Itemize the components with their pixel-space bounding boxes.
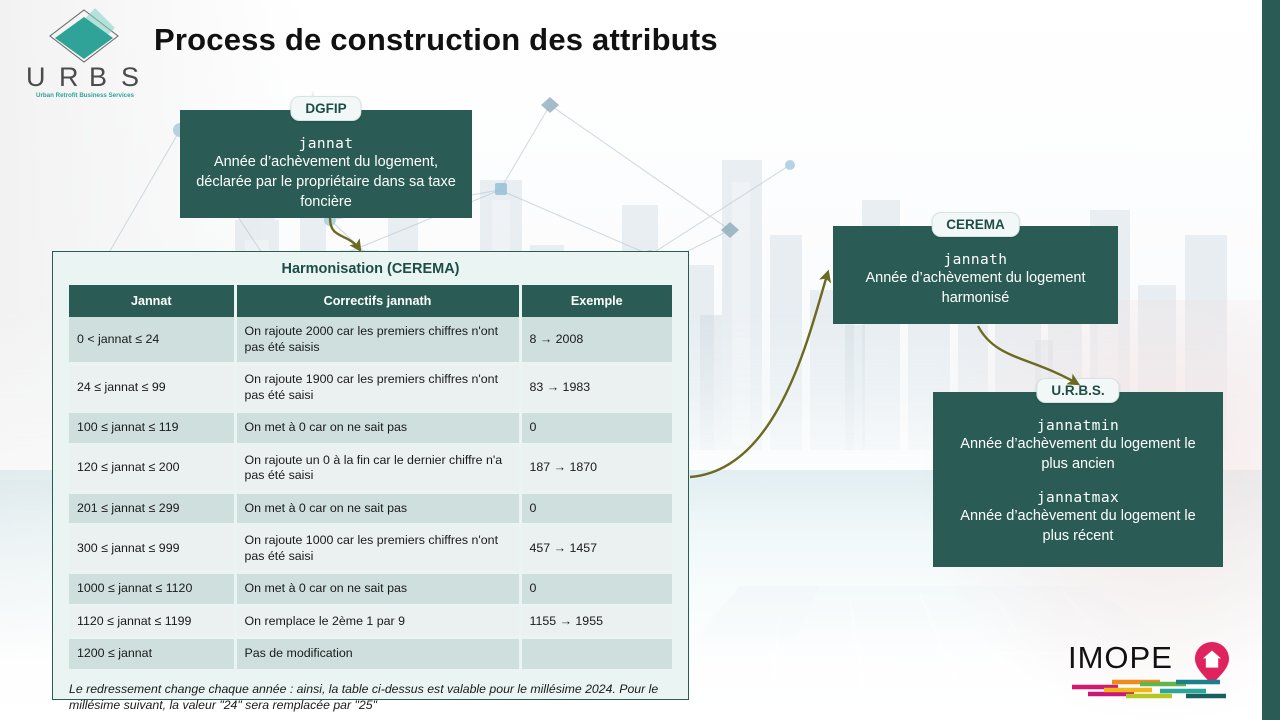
cell-jannat: 1120 ≤ jannat ≤ 1199 <box>69 605 235 638</box>
house-pin-icon <box>1195 642 1229 685</box>
card-urbs-chip: U.R.B.S. <box>1036 378 1119 403</box>
cell-exemple: 457 → 1457 <box>520 525 672 573</box>
cell-correctif: On rajoute un 0 à la fin car le dernier … <box>235 444 520 492</box>
cell-correctif: Pas de modification <box>235 638 520 671</box>
table-row: 24 ≤ jannat ≤ 99On rajoute 1900 car les … <box>69 364 672 412</box>
table-row: 300 ≤ jannat ≤ 999On rajoute 1000 car le… <box>69 525 672 573</box>
card-dgfip-description: Année d’achèvement du logement, déclarée… <box>194 152 458 212</box>
urbs-letter-r: R <box>59 62 79 92</box>
imope-wordmark: IMOPE <box>1068 640 1173 675</box>
cell-jannat: 120 ≤ jannat ≤ 200 <box>69 444 235 492</box>
card-cerema-code: jannath <box>847 252 1104 268</box>
arrow-table-to-cerema <box>690 272 828 477</box>
card-cerema-chip: CEREMA <box>931 212 1020 237</box>
harmonisation-panel: Harmonisation (CEREMA) Jannat Correctifs… <box>52 251 689 700</box>
cell-correctif: On rajoute 2000 car les premiers chiffre… <box>235 317 520 364</box>
right-accent-bar <box>1262 0 1280 720</box>
harmonisation-footnote: Le redressement change chaque année : ai… <box>69 681 672 714</box>
table-row: 1200 ≤ jannatPas de modification <box>69 638 672 671</box>
cell-jannat: 1000 ≤ jannat ≤ 1120 <box>69 573 235 606</box>
column-header-jannat: Jannat <box>69 285 235 317</box>
cell-correctif: On rajoute 1000 car les premiers chiffre… <box>235 525 520 573</box>
cell-jannat: 300 ≤ jannat ≤ 999 <box>69 525 235 573</box>
cell-jannat: 24 ≤ jannat ≤ 99 <box>69 364 235 412</box>
cell-exemple: 0 <box>520 492 672 525</box>
urbs-letter-s: S <box>121 62 139 92</box>
card-cerema: CEREMA jannath Année d’achèvement du log… <box>833 226 1118 324</box>
cell-exemple: 0 <box>520 412 672 445</box>
cell-correctif: On remplace le 2ème 1 par 9 <box>235 605 520 638</box>
urbs-letter-b: B <box>89 62 107 92</box>
cell-correctif: On met à 0 car on ne sait pas <box>235 412 520 445</box>
cell-exemple: 83 → 1983 <box>520 364 672 412</box>
urbs-tagline: Urban Retrofit Business Services <box>36 92 135 99</box>
table-row: 1120 ≤ jannat ≤ 1199On remplace le 2ème … <box>69 605 672 638</box>
card-dgfip: DGFIP jannat Année d’achèvement du logem… <box>180 110 472 218</box>
card-urbs-description-max: Année d’achèvement du logement le plus r… <box>947 506 1209 546</box>
slide-canvas: U R B S Urban Retrofit Business Services… <box>0 0 1280 720</box>
cell-jannat: 100 ≤ jannat ≤ 119 <box>69 412 235 445</box>
harmonisation-table: Jannat Correctifs jannath Exemple 0 < ja… <box>69 285 672 672</box>
card-urbs-spacer <box>947 474 1209 490</box>
page-title: Process de construction des attributs <box>154 22 718 58</box>
card-dgfip-code: jannat <box>194 136 458 152</box>
cell-correctif: On rajoute 1900 car les premiers chiffre… <box>235 364 520 412</box>
table-row: 0 < jannat ≤ 24On rajoute 2000 car les p… <box>69 317 672 364</box>
card-urbs: U.R.B.S. jannatmin Année d’achèvement du… <box>933 392 1223 567</box>
cell-exemple: 187 → 1870 <box>520 444 672 492</box>
cell-correctif: On met à 0 car on ne sait pas <box>235 492 520 525</box>
cell-exemple: 1155 → 1955 <box>520 605 672 638</box>
table-body: 0 < jannat ≤ 24On rajoute 2000 car les p… <box>69 317 672 670</box>
cell-jannat: 1200 ≤ jannat <box>69 638 235 671</box>
cell-exemple <box>520 638 672 671</box>
cell-jannat: 0 < jannat ≤ 24 <box>69 317 235 364</box>
table-header-row: Jannat Correctifs jannath Exemple <box>69 285 672 317</box>
table-row: 120 ≤ jannat ≤ 200On rajoute un 0 à la f… <box>69 444 672 492</box>
card-dgfip-chip: DGFIP <box>290 96 361 121</box>
card-urbs-body: jannatmin Année d’achèvement du logement… <box>933 392 1223 558</box>
card-cerema-body: jannath Année d’achèvement du logement h… <box>833 226 1118 320</box>
cell-jannat: 201 ≤ jannat ≤ 299 <box>69 492 235 525</box>
table-row: 100 ≤ jannat ≤ 119On met à 0 car on ne s… <box>69 412 672 445</box>
table-row: 1000 ≤ jannat ≤ 1120On met à 0 car on ne… <box>69 573 672 606</box>
card-dgfip-body: jannat Année d’achèvement du logement, d… <box>180 110 472 224</box>
arrow-cerema-to-urbs <box>978 326 1078 384</box>
urbs-logo: U R B S Urban Retrofit Business Services <box>14 4 154 100</box>
card-cerema-description: Année d’achèvement du logement harmonisé <box>847 268 1104 308</box>
urbs-letter-u: U <box>26 62 46 92</box>
column-header-correctifs: Correctifs jannath <box>235 285 520 317</box>
card-urbs-description-min: Année d’achèvement du logement le plus a… <box>947 434 1209 474</box>
imope-logo: IMOPE <box>1068 638 1243 702</box>
cell-exemple: 0 <box>520 573 672 606</box>
harmonisation-panel-title: Harmonisation (CEREMA) <box>53 252 688 285</box>
column-header-exemple: Exemple <box>520 285 672 317</box>
table-row: 201 ≤ jannat ≤ 299On met à 0 car on ne s… <box>69 492 672 525</box>
cell-exemple: 8 → 2008 <box>520 317 672 364</box>
cell-correctif: On met à 0 car on ne sait pas <box>235 573 520 606</box>
card-urbs-code-max: jannatmax <box>947 490 1209 506</box>
card-urbs-code-min: jannatmin <box>947 418 1209 434</box>
